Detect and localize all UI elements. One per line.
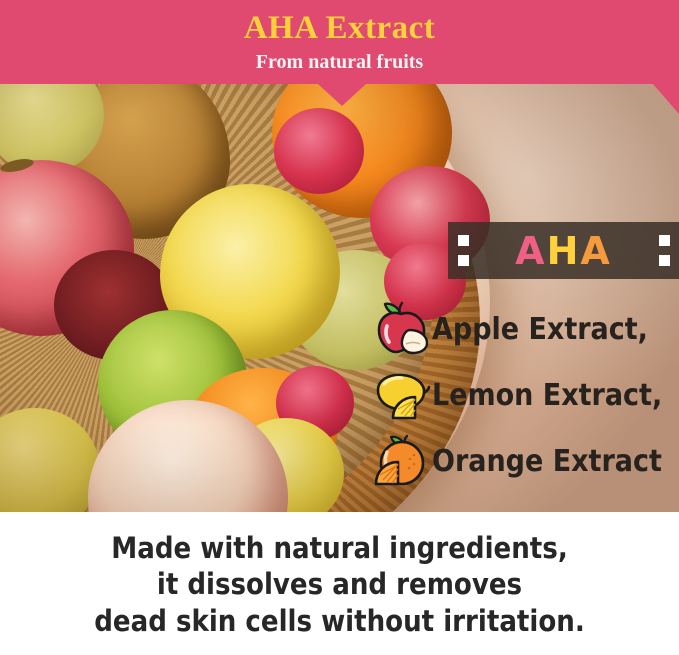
ingredient-list: Apple Extract, Lemon Extract, [370,296,679,494]
dot-icon [458,255,469,266]
lemon-icon [370,366,432,424]
page-subtitle: From natural fruits [0,52,679,72]
badge-dots-left [448,222,478,279]
orange-icon [370,432,432,490]
apple-icon [370,300,432,358]
aha-badge: AHA [448,222,679,279]
badge-dots-right [649,222,679,279]
dot-icon [659,235,670,246]
header-banner: AHA Extract From natural fruits [0,0,679,84]
ingredient-label: Orange Extract [432,444,662,479]
ingredient-label: Lemon Extract, [432,378,662,413]
caption-line-2: it dissolves and removes [157,566,522,603]
list-item: Lemon Extract, [370,362,679,428]
aha-letter-a2: A [580,229,611,273]
banner-notch-triangle [318,84,366,106]
caption-line-1: Made with natural ingredients, [111,530,567,567]
ingredient-label: Apple Extract, [432,312,648,347]
page-title: AHA Extract [0,12,679,45]
caption-line-3: dead skin cells without irritation. [94,603,585,640]
list-item: Apple Extract, [370,296,679,362]
banner-corner-accent [653,84,679,114]
caption-block: Made with natural ingredients, it dissol… [0,514,679,655]
product-infographic: AHA Extract From natural fruits AHA [0,0,679,655]
aha-letters: AHA [478,232,649,270]
list-item: Orange Extract [370,428,679,494]
dot-icon [659,255,670,266]
aha-letter-a1: A [515,229,546,273]
aha-letter-h: H [547,229,581,273]
dot-icon [458,235,469,246]
